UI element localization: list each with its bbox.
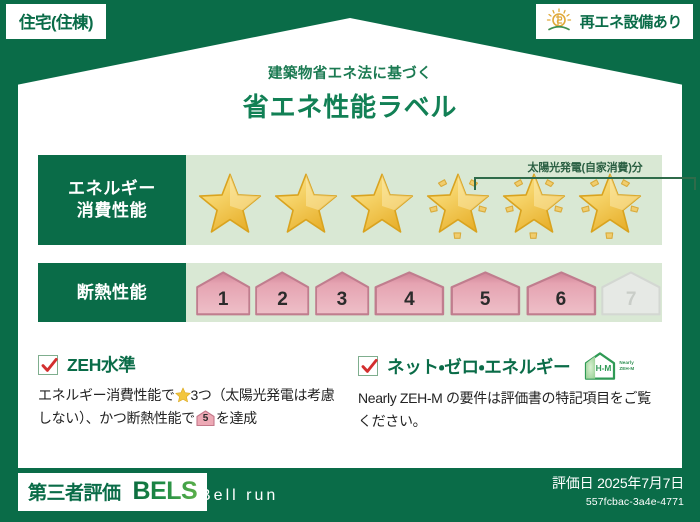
svg-text:H-M: H-M bbox=[596, 363, 612, 373]
third-party-label: 第三者評価 bbox=[28, 478, 121, 505]
label-title-block: 建築物省エネ法に基づく 省エネ性能ラベル bbox=[0, 62, 700, 124]
renewable-energy-label: 再エネ設備あり bbox=[580, 11, 682, 32]
zeh-standard-title: ZEH水準 bbox=[67, 352, 136, 377]
energy-heading-line-1: エネルギー bbox=[68, 178, 156, 200]
insulation-level-1: 1 bbox=[195, 270, 251, 316]
insulation-level-4: 4 bbox=[373, 270, 446, 316]
zeh-m-caption-line2: ZEH-M bbox=[619, 366, 634, 371]
zeh-standard-checkbox[interactable] bbox=[38, 355, 58, 375]
criteria-notes: ZEH水準 エネルギー消費性能で 3つ（太陽光発電は考慮しない）、かつ断熱性能で… bbox=[38, 352, 664, 432]
net-zero-title: ネット・ゼロ・エネルギー bbox=[387, 354, 570, 379]
page-title: 省エネ性能ラベル bbox=[0, 87, 700, 124]
insulation-level-number: 2 bbox=[277, 290, 288, 316]
title-subtitle: 建築物省エネ法に基づく bbox=[0, 62, 700, 83]
insulation-level-number: 1 bbox=[218, 290, 229, 316]
bels-logo-text: BELS bbox=[133, 477, 198, 506]
solar-portion-bracket bbox=[474, 177, 696, 190]
net-zero-energy-note: ネット・ゼロ・エネルギー H-M N bbox=[351, 352, 664, 432]
footer-meta: 評価日 2025年7月7日 557fcbac-3a4e-4771 bbox=[552, 473, 684, 508]
building-type-tag: 住宅(住棟) bbox=[6, 4, 106, 39]
brand-name: Bell run bbox=[200, 487, 278, 504]
insulation-level-number: 6 bbox=[556, 290, 567, 316]
star-2 bbox=[268, 170, 344, 242]
energy-performance-row: エネルギー 消費性能 太陽光発電(自家消費)分 bbox=[38, 155, 662, 245]
insulation-heading-label: 断熱性能 bbox=[77, 282, 147, 304]
zeh-body-part1: エネルギー消費性能で bbox=[38, 387, 175, 403]
inline-badge-level: 5 bbox=[196, 410, 215, 426]
insulation-level-5: 5 bbox=[449, 270, 522, 316]
insulation-row-heading: 断熱性能 bbox=[38, 263, 186, 322]
insulation-level-number: 4 bbox=[404, 290, 415, 316]
zeh-standard-note: ZEH水準 エネルギー消費性能で 3つ（太陽光発電は考慮しない）、かつ断熱性能で… bbox=[38, 352, 351, 432]
check-icon bbox=[40, 356, 59, 375]
insulation-level-group: 1 2 3 bbox=[186, 263, 662, 322]
insulation-level-number: 3 bbox=[337, 290, 348, 316]
evaluation-date: 評価日 2025年7月7日 bbox=[552, 473, 684, 493]
star-3 bbox=[344, 170, 420, 242]
zeh-standard-header: ZEH水準 bbox=[38, 352, 337, 377]
star-icon bbox=[271, 171, 341, 241]
star-icon bbox=[347, 171, 417, 241]
insulation-level-7: 7 bbox=[600, 270, 662, 316]
energy-rating-panel: 太陽光発電(自家消費)分 bbox=[186, 155, 662, 245]
renewable-energy-tag: 再エネ設備あり bbox=[536, 4, 693, 39]
zeh-standard-body: エネルギー消費性能で 3つ（太陽光発電は考慮しない）、かつ断熱性能で 5を達成 bbox=[38, 384, 337, 429]
solar-portion-caption: 太陽光発電(自家消費)分 bbox=[474, 159, 696, 175]
check-icon bbox=[360, 357, 379, 376]
inline-insulation-badge: 5 bbox=[196, 410, 215, 426]
inline-star-icon bbox=[175, 387, 191, 403]
net-zero-checkbox[interactable] bbox=[358, 356, 378, 376]
energy-performance-label: 住宅(住棟) 再エネ設備あり 建築 bbox=[0, 0, 700, 522]
insulation-level-2: 2 bbox=[254, 270, 310, 316]
insulation-level-6: 6 bbox=[525, 270, 598, 316]
zeh-m-logo-caption: Nearly ZEH-M bbox=[619, 360, 634, 371]
insulation-level-number: 7 bbox=[626, 290, 637, 316]
zeh-m-logo: H-M Nearly ZEH-M bbox=[583, 352, 634, 380]
insulation-rating-panel: 1 2 3 bbox=[186, 263, 662, 322]
insulation-performance-row: 断熱性能 1 bbox=[38, 263, 662, 322]
zeh-m-house-icon: H-M bbox=[583, 352, 617, 380]
star-icon bbox=[195, 171, 265, 241]
footer-bels-block: 第三者評価 BELS bbox=[18, 473, 207, 511]
zeh-body-part2: を達成 bbox=[216, 410, 257, 426]
brand-name-wrap: Bell run bbox=[196, 487, 278, 505]
insulation-level-3: 3 bbox=[314, 270, 370, 316]
energy-row-heading: エネルギー 消費性能 bbox=[38, 155, 186, 245]
net-zero-header: ネット・ゼロ・エネルギー H-M N bbox=[358, 352, 664, 380]
zeh-m-caption-line1: Nearly bbox=[619, 360, 634, 365]
certificate-id: 557fcbac-3a4e-4771 bbox=[552, 496, 684, 508]
energy-heading-line-2: 消費性能 bbox=[77, 200, 147, 222]
building-type-label: 住宅(住棟) bbox=[19, 14, 93, 32]
insulation-level-number: 5 bbox=[480, 290, 491, 316]
star-1 bbox=[192, 170, 268, 242]
net-zero-body: Nearly ZEH-M の要件は評価書の特記項目をご覧ください。 bbox=[358, 387, 664, 432]
solar-sun-icon bbox=[545, 8, 573, 34]
